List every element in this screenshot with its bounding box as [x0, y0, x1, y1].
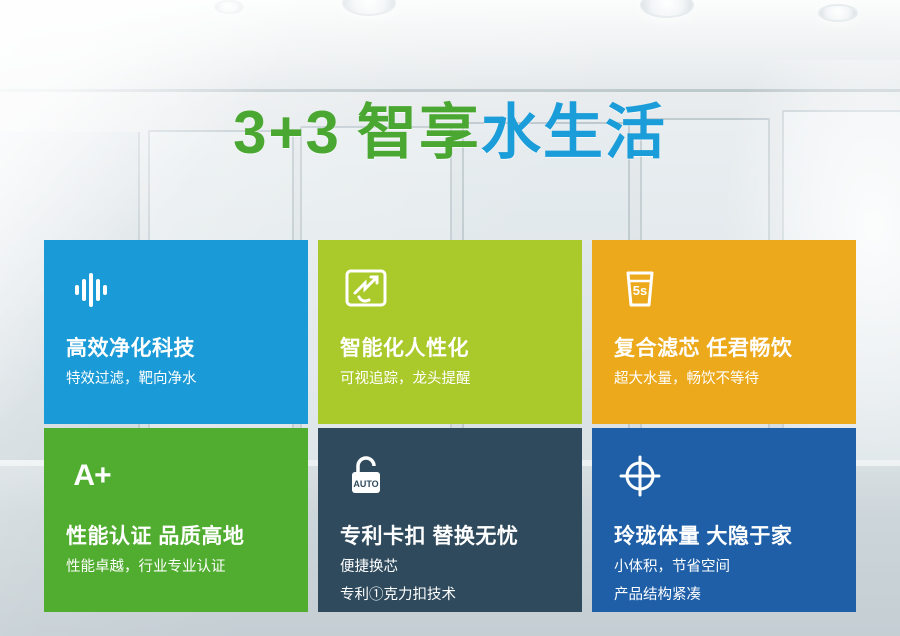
- feature-subtitle: 性能卓越，行业专业认证: [66, 557, 290, 578]
- headline-part-2: 智享: [357, 99, 481, 166]
- smart-touch-hand-icon: [340, 262, 392, 314]
- feature-card-filter[interactable]: 5s 复合滤芯 任君畅饮 超大水量，畅饮不等待: [592, 240, 856, 424]
- auto-lock-icon: AUTO: [340, 450, 392, 502]
- headline-part-1: 3+3: [233, 99, 341, 166]
- compact-target-icon: [614, 450, 666, 502]
- feature-card-patent-clip[interactable]: AUTO 专利卡扣 替换无忧 便捷换芯 专利①克力扣技术: [318, 428, 582, 612]
- feature-card-compact[interactable]: 玲珑体量 大隐于家 小体积，节省空间 产品结构紧凑: [592, 428, 856, 612]
- feature-title: 玲珑体量 大隐于家: [614, 520, 838, 550]
- page-title: 3+3智享水生活: [0, 84, 900, 171]
- a-plus-grade-icon: A+: [66, 450, 118, 502]
- sound-wave-bars-icon: [66, 262, 118, 314]
- feature-title: 专利卡扣 替换无忧: [340, 520, 564, 550]
- feature-subtitle: 特效过滤，靶向净水: [66, 369, 290, 390]
- headline-part-3: 水生活: [481, 99, 667, 166]
- feature-grid: 高效净化科技 特效过滤，靶向净水 智能化人性化 可视追踪，龙头提醒: [44, 240, 856, 612]
- feature-card-purification[interactable]: 高效净化科技 特效过滤，靶向净水: [44, 240, 308, 424]
- feature-title: 性能认证 品质高地: [66, 520, 290, 550]
- promo-banner: 3+3智享水生活 高效净化科技 特效过滤，靶向净水: [0, 0, 900, 636]
- feature-title: 智能化人性化: [340, 332, 564, 362]
- feature-title: 高效净化科技: [66, 332, 290, 362]
- feature-subtitle: 便捷换芯: [340, 557, 564, 578]
- ceiling-light-icon: [214, 0, 244, 14]
- feature-card-smart[interactable]: 智能化人性化 可视追踪，龙头提醒: [318, 240, 582, 424]
- a-plus-label: A+: [73, 461, 110, 491]
- ceiling-light-icon: [818, 4, 858, 22]
- feature-card-certification[interactable]: A+ 性能认证 品质高地 性能卓越，行业专业认证: [44, 428, 308, 612]
- svg-text:AUTO: AUTO: [353, 479, 378, 489]
- svg-text:5s: 5s: [633, 283, 647, 298]
- feature-subtitle: 超大水量，畅饮不等待: [614, 369, 838, 390]
- feature-subtitle: 小体积，节省空间: [614, 557, 838, 578]
- water-cup-5s-icon: 5s: [614, 262, 666, 314]
- feature-subtitle-2: 专利①克力扣技术: [340, 585, 564, 606]
- feature-title: 复合滤芯 任君畅饮: [614, 332, 838, 362]
- feature-subtitle: 可视追踪，龙头提醒: [340, 369, 564, 390]
- feature-subtitle-2: 产品结构紧凑: [614, 585, 838, 606]
